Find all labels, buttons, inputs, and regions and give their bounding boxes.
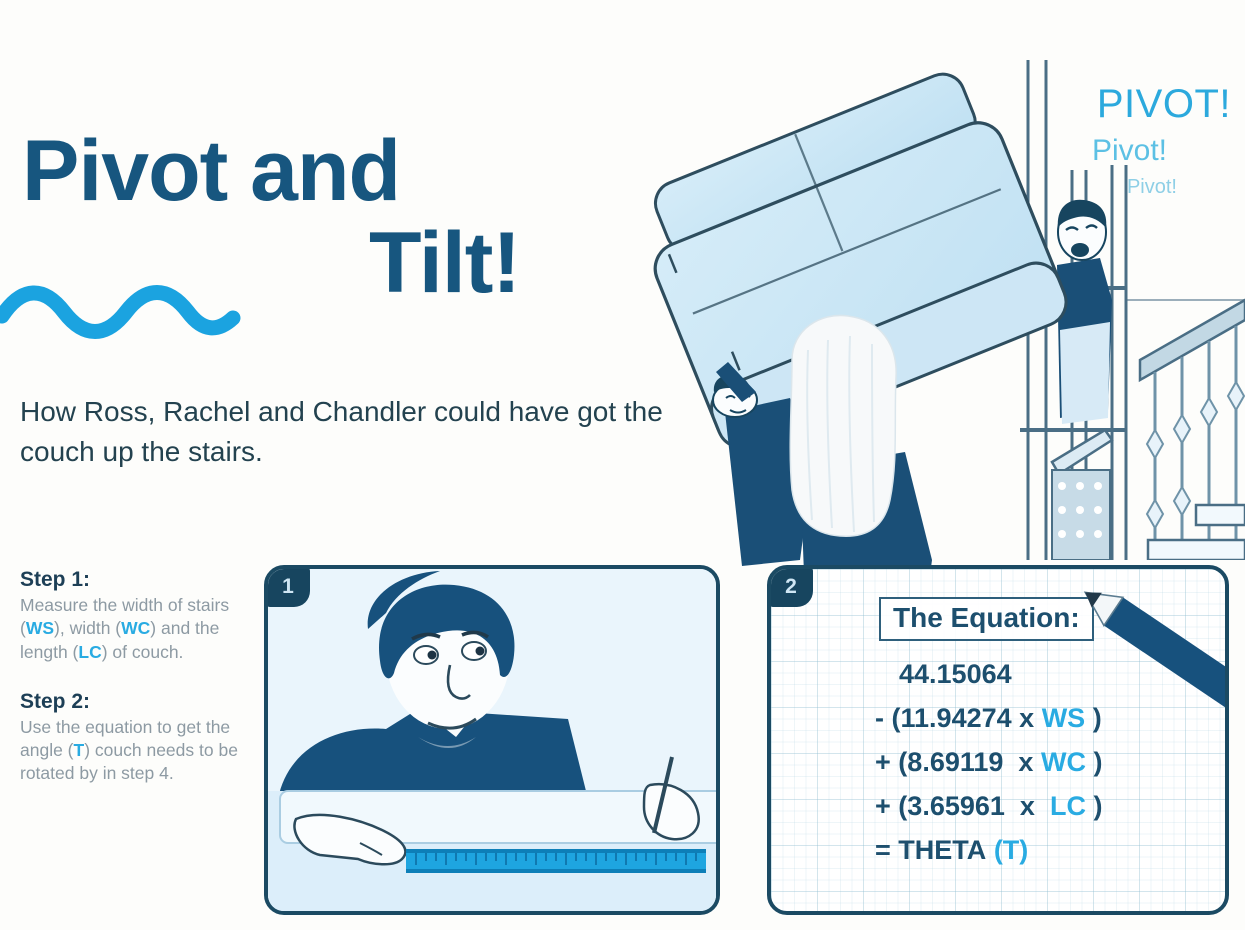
equation-block: The Equation: 44.15064 - (11.94274 x WS … bbox=[771, 569, 1225, 911]
step-item-2: Step 2: Use the equation to get the angl… bbox=[20, 690, 248, 786]
shout-pivot-small: Pivot! bbox=[1127, 176, 1177, 199]
panel-equation[interactable]: 2 The Equation: 44.15064 - (11.94274 x W… bbox=[767, 565, 1229, 915]
equation-term-ws: - (11.94274 x WS ) bbox=[875, 705, 1102, 732]
panel-1-badge: 1 bbox=[266, 567, 310, 607]
ross-measuring-artwork bbox=[268, 569, 720, 915]
panel-measuring[interactable]: 1 bbox=[264, 565, 720, 915]
person-shouting-at-stairs bbox=[1057, 200, 1112, 424]
infographic-canvas: Pivot and Tilt! How Ross, Rachel and Cha… bbox=[0, 0, 1245, 930]
equation-term-lc: + (3.65961 x LC ) bbox=[875, 793, 1102, 820]
var-wc: WC bbox=[121, 618, 150, 638]
step-list: Step 1: Measure the width of stairs (WS)… bbox=[20, 568, 248, 812]
equation-lines: 44.15064 - (11.94274 x WS ) + (8.69119 x… bbox=[875, 661, 1102, 881]
step-1-heading: Step 1: bbox=[20, 568, 248, 592]
step-1-body: Measure the width of stairs (WS), width … bbox=[20, 594, 248, 664]
equation-constant: 44.15064 bbox=[875, 661, 1102, 688]
title-line-1: Pivot and bbox=[22, 128, 542, 214]
var-lc: LC bbox=[78, 642, 101, 662]
person-ross-carrying bbox=[713, 362, 812, 566]
equation-title: The Equation: bbox=[879, 597, 1094, 641]
equation-result: = THETA (T) bbox=[875, 837, 1102, 864]
subtitle: How Ross, Rachel and Chandler could have… bbox=[20, 392, 720, 472]
step-2-heading: Step 2: bbox=[20, 690, 248, 714]
step-item-1: Step 1: Measure the width of stairs (WS)… bbox=[20, 568, 248, 664]
shout-pivot-large: PIVOT! bbox=[1097, 82, 1231, 127]
var-t: T bbox=[74, 740, 85, 760]
equation-term-wc: + (8.69119 x WC ) bbox=[875, 749, 1102, 776]
var-ws: WS bbox=[26, 618, 54, 638]
shout-pivot-medium: Pivot! bbox=[1092, 134, 1167, 168]
wavy-underline-decoration bbox=[0, 280, 250, 340]
panel-2-badge: 2 bbox=[769, 567, 813, 607]
step-2-body: Use the equation to get the angle (T) co… bbox=[20, 716, 248, 786]
